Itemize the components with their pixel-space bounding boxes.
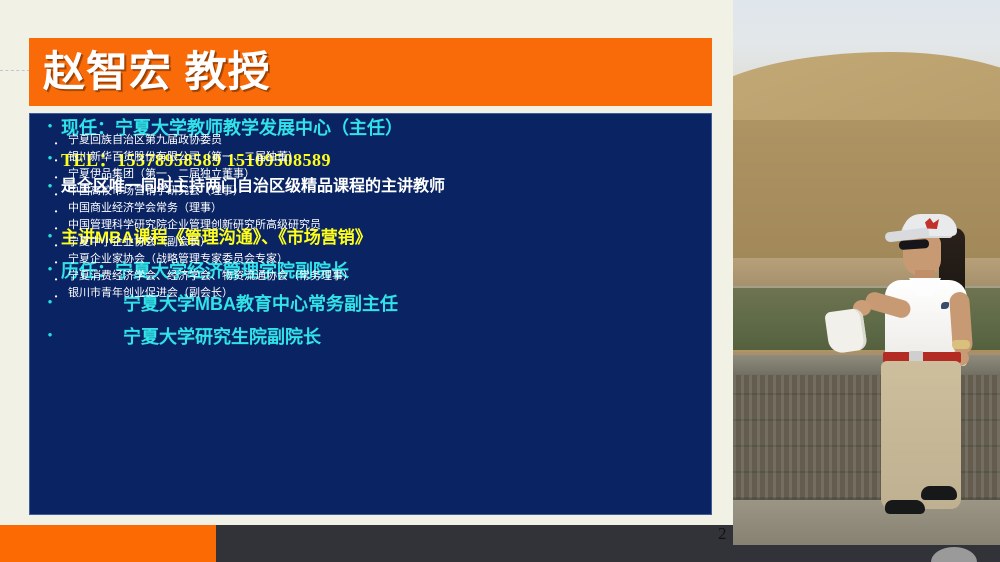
bullet-icon: • [44, 135, 68, 152]
bullet-icon: • [44, 152, 68, 169]
shirt-logo [941, 302, 949, 309]
list-item-label: 银川市青年创业促进会（副会长） [68, 288, 233, 299]
list-item-label: 银川新华百货股份有限公司（第一、二届独董） [68, 152, 299, 163]
list-item: • 银川新华百货股份有限公司（第一、二届独董） [44, 152, 725, 169]
content-box: • 现任：宁夏大学教师教学发展中心（主任） • TEL：15378958589 … [29, 113, 712, 515]
slide-number: 2 [718, 524, 727, 544]
slide-canvas: 赵智宏 教授 • 现任：宁夏大学教师教学发展中心（主任） • TEL：15378… [0, 0, 1000, 562]
page-title: 赵智宏 教授 [43, 41, 271, 103]
white-bag [824, 308, 867, 355]
list-item: • 中国高校市场营销学研究会（理事） [44, 186, 725, 203]
list-item: • 宁夏伊品集团（第一、二届独立董事） [44, 169, 725, 186]
bullet-icon: • [44, 203, 68, 220]
list-item-label: 中国管理科学研究院企业管理创新研究所高级研究员 [68, 220, 321, 231]
title-bar: 赵智宏 教授 [29, 38, 712, 106]
list-item: • 宁夏回族自治区第九届政协委员 [44, 135, 725, 152]
bullet-icon: • [44, 237, 68, 254]
list-item-label: 宁夏中小企业协会（副会长） [68, 237, 211, 248]
list-item-label: 宁夏伊品集团（第一、二届独立董事） [68, 169, 255, 180]
bullet-icon: • [44, 220, 68, 237]
footer-accent-bar [0, 525, 216, 562]
list-item-label: 中国高校市场营销学研究会（理事） [68, 186, 244, 197]
bullet-icon: • [44, 254, 68, 271]
bullet-icon: • [39, 328, 61, 341]
list-item: • 宁夏企业家协会（战略管理专家委员会专家） [44, 254, 725, 271]
bullet-icon: • [44, 169, 68, 186]
list-item: • 中国管理科学研究院企业管理创新研究所高级研究员 [44, 220, 725, 237]
person-right-shoe [921, 486, 957, 500]
list-item-label: 宁夏消费经济学会、经济学会、物资流通协会（常务理事） [68, 271, 354, 282]
bullet-icon: • [44, 271, 68, 288]
list-item: • 中国商业经济学会常务（理事） [44, 203, 725, 220]
list-item-label: 宁夏回族自治区第九届政协委员 [68, 135, 222, 146]
bracelet [952, 340, 970, 349]
person-left-shoe [885, 500, 925, 514]
portrait-photo [733, 0, 1000, 556]
list-item-label: 中国商业经济学会常务（理事） [68, 203, 222, 214]
layout-guide-line [0, 70, 30, 71]
list-item: • 宁夏中小企业协会（副会长） [44, 237, 725, 254]
list-item: • 宁夏消费经济学会、经济学会、物资流通协会（常务理事） [44, 271, 725, 288]
list-item-label: 宁夏企业家协会（战略管理专家委员会专家） [68, 254, 288, 265]
affiliations-list: • 宁夏回族自治区第九届政协委员 • 银川新华百货股份有限公司（第一、二届独董）… [30, 135, 725, 305]
list-item-label: 宁夏大学研究生院副院长 [123, 328, 321, 346]
bullet-icon: • [44, 288, 68, 305]
bullet-icon: • [44, 186, 68, 203]
list-item: • 银川市青年创业促进会（副会长） [44, 288, 725, 305]
bullet-icon: • [39, 119, 61, 132]
list-item: • 宁夏大学研究生院副院长 [39, 328, 720, 359]
